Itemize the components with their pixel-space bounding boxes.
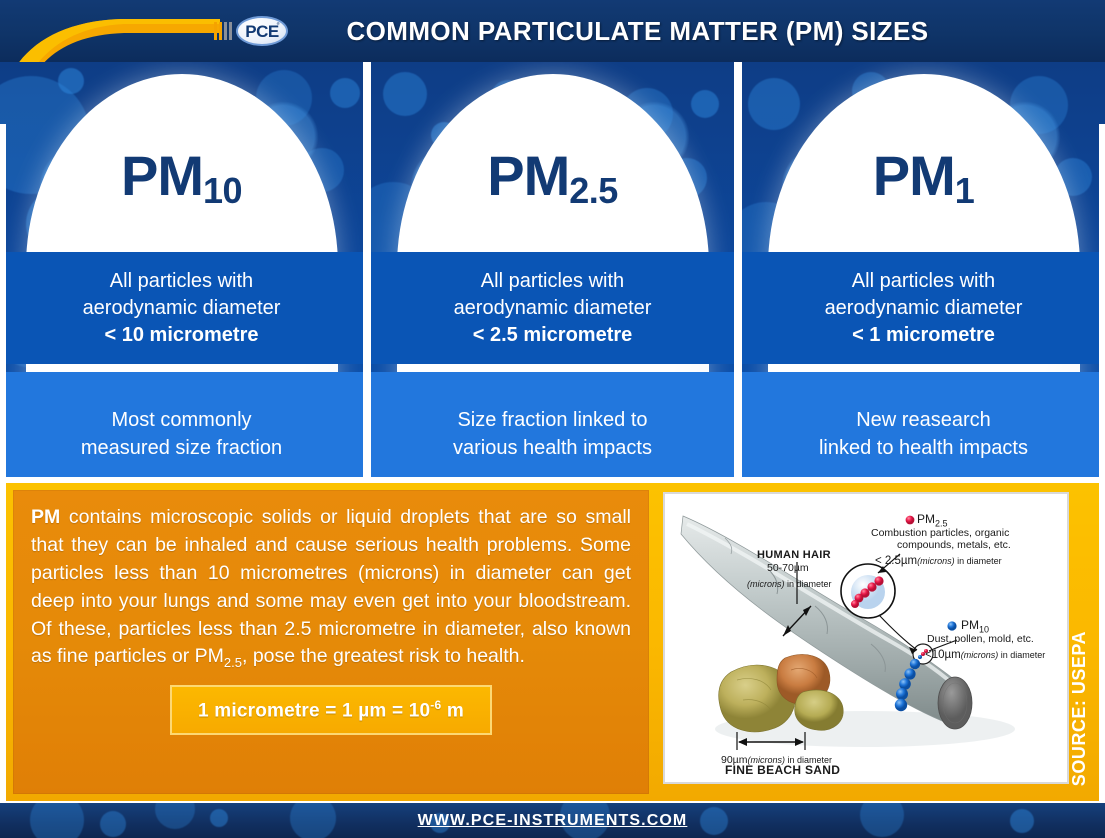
pm10-legend-title: PM10 bbox=[961, 618, 989, 634]
pm25-note-italic: (microns) bbox=[917, 556, 955, 566]
pm-card-pm10[interactable]: PM10 All particles with aerodynamic diam… bbox=[0, 62, 363, 477]
definition-band-pm1: All particles with aerodynamic diameter … bbox=[742, 252, 1105, 364]
pm-label-subscript: 1 bbox=[955, 170, 975, 211]
definition-line-2: aerodynamic diameter bbox=[454, 295, 652, 322]
pm-label-base: PM bbox=[487, 144, 569, 207]
footer-bar: WWW.PCE-INSTRUMENTS.COM bbox=[0, 803, 1105, 838]
formula-exponent: -6 bbox=[430, 698, 441, 712]
pm-cards-section: PM10 All particles with aerodynamic diam… bbox=[0, 62, 1105, 477]
pm25-title: PM bbox=[917, 512, 935, 526]
hair-note-italic: (microns) bbox=[747, 579, 785, 589]
definition-line-3: < 10 micrometre bbox=[105, 322, 259, 349]
pm-card-pm25[interactable]: PM2.5 All particles with aerodynamic dia… bbox=[363, 62, 734, 477]
pm10-note-rest: in diameter bbox=[998, 650, 1045, 660]
definition-line-3: < 1 micrometre bbox=[852, 322, 995, 349]
page-title: COMMON PARTICULATE MATTER (PM) SIZES bbox=[0, 0, 1105, 62]
hair-title-label: HUMAN HAIR bbox=[757, 549, 831, 561]
pm10-size-label: <10µm(microns) in diameter bbox=[925, 645, 1045, 663]
description-panel: PM contains microscopic solids or liquid… bbox=[6, 483, 1099, 801]
definition-line-3: < 2.5 micrometre bbox=[473, 322, 633, 349]
definition-line-1: All particles with bbox=[481, 268, 624, 295]
description-lead: PM bbox=[31, 506, 60, 528]
description-text-panel: PM contains microscopic solids or liquid… bbox=[13, 490, 649, 794]
pm-label-subscript: 2.5 bbox=[569, 170, 618, 211]
formula-text-after: m bbox=[441, 700, 464, 721]
note-line-1: New reasearch bbox=[856, 406, 991, 434]
pm10-title: PM bbox=[961, 618, 979, 632]
description-subscript: 2.5 bbox=[224, 655, 242, 670]
pm25-desc-line2: compounds, metals, etc. bbox=[897, 539, 1011, 551]
unit-conversion-badge: 1 micrometre = 1 µm = 10-6 m bbox=[170, 685, 492, 735]
pm10-size: <10µm bbox=[925, 649, 961, 661]
header-bar: PCE® COMMON PARTICULATE MATTER (PM) SIZE… bbox=[0, 0, 1105, 62]
pm-label-base: PM bbox=[121, 144, 203, 207]
definition-line-2: aerodynamic diameter bbox=[83, 295, 281, 322]
definition-line-2: aerodynamic diameter bbox=[825, 295, 1023, 322]
hair-note-rest: in diameter bbox=[785, 579, 832, 589]
note-line-1: Size fraction linked to bbox=[457, 406, 647, 434]
description-tail: , pose the greatest risk to health. bbox=[242, 645, 525, 667]
pm25-size-label: < 2.5µm(microns) in diameter bbox=[875, 551, 1002, 569]
pm-label-pm25: PM2.5 bbox=[371, 148, 734, 204]
pm10-desc-line1: Dust, pollen, mold, etc. bbox=[927, 633, 1034, 645]
definition-line-1: All particles with bbox=[852, 268, 995, 295]
pm-card-pm1[interactable]: PM1 All particles with aerodynamic diame… bbox=[734, 62, 1105, 477]
infographic-page: PCE® COMMON PARTICULATE MATTER (PM) SIZE… bbox=[0, 0, 1105, 838]
pm25-desc-line1: Combustion particles, organic bbox=[871, 527, 1009, 539]
website-link[interactable]: WWW.PCE-INSTRUMENTS.COM bbox=[0, 803, 1105, 838]
note-band-pm1: New reasearch linked to health impacts bbox=[742, 372, 1105, 477]
hair-note-label: (microns) in diameter bbox=[747, 574, 832, 592]
pm-label-base: PM bbox=[873, 144, 955, 207]
definition-band-pm10: All particles with aerodynamic diameter … bbox=[0, 252, 363, 364]
definition-band-pm25: All particles with aerodynamic diameter … bbox=[371, 252, 734, 364]
hair-size-label: 50-70µm bbox=[767, 562, 809, 574]
diagram-panel: HUMAN HAIR 50-70µm (microns) in diameter… bbox=[663, 490, 1092, 794]
description-paragraph: PM contains microscopic solids or liquid… bbox=[31, 504, 631, 673]
usepa-size-comparison-diagram[interactable]: HUMAN HAIR 50-70µm (microns) in diameter… bbox=[663, 492, 1069, 784]
pm-label-subscript: 10 bbox=[203, 170, 242, 211]
pm25-legend-title: PM2.5 bbox=[917, 512, 948, 528]
note-line-2: measured size fraction bbox=[81, 434, 282, 462]
note-band-pm10: Most commonly measured size fraction bbox=[0, 372, 363, 477]
left-edge-strip bbox=[0, 124, 6, 477]
definition-line-1: All particles with bbox=[110, 268, 253, 295]
note-line-2: linked to health impacts bbox=[819, 434, 1028, 462]
note-line-1: Most commonly bbox=[111, 406, 251, 434]
sand-title-label: FINE BEACH SAND bbox=[725, 763, 840, 777]
description-body: contains microscopic solids or liquid dr… bbox=[31, 506, 631, 667]
pm25-size: < 2.5µm bbox=[875, 555, 917, 567]
source-attribution: SOURCE: USEPA bbox=[1069, 631, 1090, 786]
note-band-pm25: Size fraction linked to various health i… bbox=[371, 372, 734, 477]
pm25-note-rest: in diameter bbox=[955, 556, 1002, 566]
pm-label-pm10: PM10 bbox=[0, 148, 363, 204]
formula-text-before: 1 micrometre = 1 µm = 10 bbox=[198, 700, 430, 721]
pm10-note-italic: (microns) bbox=[961, 650, 999, 660]
pm-label-pm1: PM1 bbox=[742, 148, 1105, 204]
note-line-2: various health impacts bbox=[453, 434, 652, 462]
right-edge-strip bbox=[1099, 124, 1105, 477]
